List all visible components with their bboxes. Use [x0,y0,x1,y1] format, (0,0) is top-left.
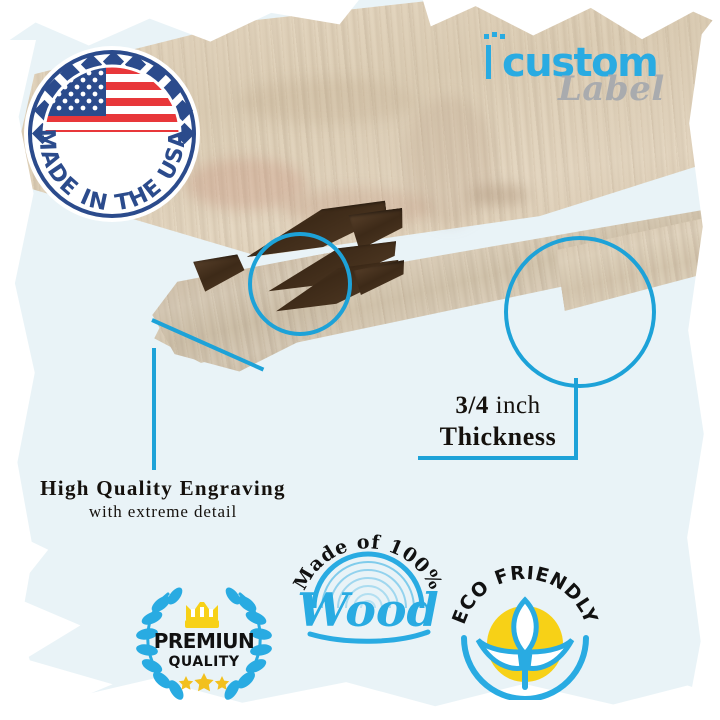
made-in-usa-badge: MADE IN THE USA [22,44,202,224]
wood-stain [238,78,418,124]
brand-dot-icon [500,34,505,39]
premium-line2: QUALITY [169,654,240,670]
engraving-subline: with extreme detail [8,501,318,524]
thickness-text-block: 3/4 inch Thickness [418,392,578,452]
engraving-leader-vertical [152,348,156,470]
thickness-label: Thickness [418,421,578,452]
wood-stain [404,96,494,226]
brand-dot-icon [492,32,497,37]
thickness-circle-marker [504,236,656,388]
premium-quality-badge: PREMIUN QUALITY [128,578,280,700]
thickness-value: 3/4 [455,392,488,419]
wood-stain [470,184,528,206]
engraving-text-block: High Quality Engraving with extreme deta… [8,476,318,524]
wood-script-text: Wood [297,583,438,637]
thickness-measure-line: 3/4 inch [418,392,578,421]
premium-line1: PREMIUN [154,629,255,653]
brush-stroke-bottom [0,646,720,720]
brand-logo: custom Label [482,26,697,106]
brand-i-bar-icon [486,45,491,79]
eco-friendly-badge: ECO FRIENDLY [446,566,604,700]
made-of-wood-badge: Made of 100% Wood [288,522,448,650]
brand-dot-icon [484,34,489,39]
engraving-circle-marker [248,232,352,336]
thickness-bracket-underline [418,456,578,460]
engraving-headline: High Quality Engraving [8,476,318,501]
product-infographic: 3/4 inch Thickness High Quality Engravin… [0,0,720,720]
thickness-unit: inch [496,392,541,419]
rating-stars [179,673,229,691]
engrave-stroke-left [193,253,249,295]
brand-secondary-name: Label [558,69,665,109]
